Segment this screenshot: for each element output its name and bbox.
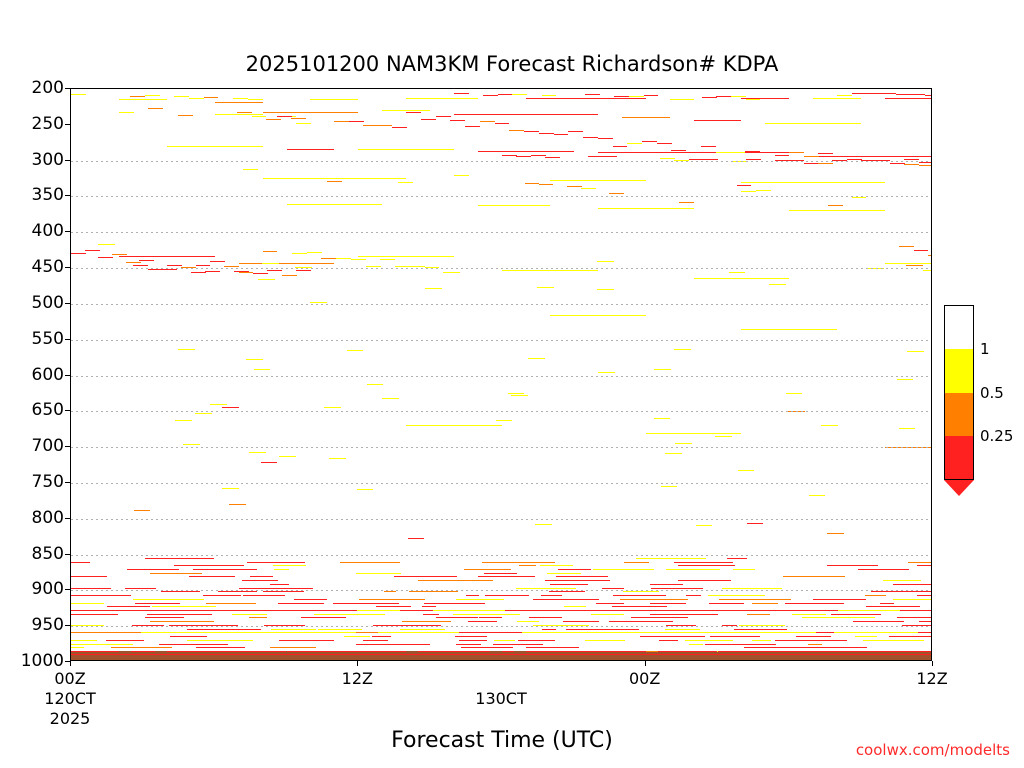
heatmap-cell (622, 651, 634, 652)
heatmap-cell (855, 636, 877, 637)
heatmap-cell (239, 272, 254, 273)
heatmap-cell (485, 595, 529, 596)
heatmap-cell (908, 562, 932, 563)
heatmap-cell (215, 102, 263, 103)
heatmap-cell (130, 96, 145, 97)
heatmap-cell (191, 651, 203, 652)
heatmap-cell (511, 395, 528, 396)
y-axis-tick-mark (65, 446, 70, 447)
color-legend-segment (944, 436, 974, 480)
heatmap-cell (222, 407, 239, 408)
heatmap-cell (585, 94, 600, 95)
heatmap-cell (696, 525, 713, 526)
heatmap-cell (243, 169, 258, 170)
y-axis-tick-mark (65, 482, 70, 483)
heatmap-cell (526, 651, 538, 652)
heatmap-cell (931, 580, 932, 581)
heatmap-cell (454, 114, 598, 115)
heatmap-cell (789, 152, 804, 153)
grid-line (71, 447, 931, 448)
heatmap-cell (675, 443, 692, 444)
y-axis-tick-mark (65, 124, 70, 125)
heatmap-cell (203, 595, 241, 596)
grid-line (71, 483, 931, 484)
heatmap-cell (701, 146, 716, 147)
heatmap-cell (654, 369, 671, 370)
heatmap-cell (107, 651, 119, 652)
heatmap-cell (804, 163, 819, 164)
heatmap-cell (918, 632, 932, 633)
heatmap-cell (792, 614, 827, 615)
heatmap-cell (602, 588, 624, 589)
heatmap-cell (239, 651, 251, 652)
heatmap-cell (598, 651, 610, 652)
heatmap-cell (549, 591, 585, 592)
y-axis-tick-label: 500 (32, 293, 64, 313)
grid-line (71, 626, 931, 627)
heatmap-cell (837, 95, 852, 96)
heatmap-cell (112, 254, 127, 255)
heatmap-cell (674, 562, 732, 563)
heatmap-cell (329, 458, 346, 459)
heatmap-cell (539, 133, 554, 134)
heatmap-cell (174, 96, 189, 97)
y-axis-tick-mark (65, 339, 70, 340)
heatmap-cell (814, 647, 866, 648)
heatmap-cell (907, 351, 924, 352)
y-axis-tick-mark (65, 625, 70, 626)
heatmap-cell (733, 569, 755, 570)
heatmap-cell (686, 595, 701, 596)
heatmap-cell (468, 621, 497, 622)
heatmap-cell (161, 591, 200, 592)
heatmap-cell (541, 595, 563, 596)
heatmap-cell (651, 588, 703, 589)
heatmap-cell (263, 591, 305, 592)
heatmap-cell (783, 576, 845, 577)
grid-line (71, 555, 931, 556)
y-axis-tick-label: 400 (32, 221, 64, 241)
heatmap-cell (517, 621, 539, 622)
heatmap-cell (657, 143, 672, 144)
grid-line (71, 340, 931, 341)
heatmap-cell (837, 651, 849, 652)
heatmap-cell (464, 569, 511, 570)
heatmap-cell (205, 271, 220, 272)
heatmap-cell (746, 99, 761, 100)
heatmap-cell (512, 94, 527, 95)
y-axis-tick-mark (65, 88, 70, 89)
heatmap-cell (893, 599, 932, 600)
heatmap-cell (526, 98, 646, 99)
heatmap-cell (424, 603, 485, 604)
heatmap-cell (716, 152, 731, 153)
heatmap-cell (765, 123, 861, 124)
heatmap-cell (865, 632, 878, 633)
heatmap-cell (685, 640, 733, 641)
heatmap-cell (237, 112, 252, 113)
x-axis-tick-mark (70, 661, 71, 666)
heatmap-cell (406, 425, 502, 426)
x-axis-tick-mark (932, 661, 933, 666)
heatmap-cell (273, 565, 306, 566)
heatmap-cell (775, 640, 848, 641)
heatmap-cell (562, 651, 574, 652)
heatmap-cell (466, 651, 478, 652)
heatmap-cell (193, 569, 257, 570)
heatmap-cell (274, 569, 288, 570)
heatmap-cell (919, 165, 932, 166)
heatmap-cell (597, 289, 614, 290)
heatmap-cell (406, 98, 478, 99)
heatmap-cell (310, 99, 358, 100)
heatmap-cell (267, 270, 282, 271)
heatmap-cell (554, 134, 569, 135)
x-axis-tick-label: 12Z (916, 669, 947, 688)
heatmap-cell (418, 580, 492, 581)
heatmap-cell (659, 640, 677, 641)
heatmap-cell (745, 151, 760, 152)
heatmap-cell (809, 495, 826, 496)
color-legend-top-arrow (944, 291, 974, 305)
heatmap-cell (925, 95, 932, 96)
heatmap-cell (71, 562, 90, 563)
heatmap-cell (838, 610, 900, 611)
heatmap-cell (398, 182, 413, 183)
heatmap-cell (533, 599, 599, 600)
heatmap-cell (741, 182, 885, 183)
x-axis-tick-label: 12Z (342, 669, 373, 688)
heatmap-cell (866, 606, 920, 607)
y-axis-tick-mark (65, 518, 70, 519)
heatmap-cell (232, 614, 268, 615)
heatmap-cell (498, 94, 513, 95)
heatmap-cell (853, 621, 904, 622)
heatmap-cell (139, 260, 154, 261)
heatmap-cell (287, 149, 335, 150)
heatmap-cell (741, 191, 756, 192)
heatmap-cell (540, 565, 573, 566)
heatmap-cell (454, 175, 469, 176)
grid-line (71, 196, 931, 197)
heatmap-cell (322, 651, 334, 652)
heatmap-cell (928, 255, 932, 256)
heatmap-cell (739, 610, 805, 611)
y-axis-tick-label: 700 (32, 436, 64, 456)
heatmap-cell (119, 112, 134, 113)
heatmap-cell (95, 651, 107, 652)
heatmap-cell (384, 591, 397, 592)
heatmap-cell (478, 205, 550, 206)
heatmap-cell (919, 621, 932, 622)
heatmap-cell (744, 647, 814, 648)
heatmap-cell (496, 420, 513, 421)
heatmap-cell (478, 651, 490, 652)
heatmap-cell (159, 644, 228, 645)
heatmap-cell (896, 94, 911, 95)
y-axis-tick-mark (65, 410, 70, 411)
heatmap-cell (310, 651, 322, 652)
heatmap-cell (598, 372, 615, 373)
heatmap-cell (406, 112, 421, 113)
heatmap-cell (899, 246, 914, 247)
heatmap-cell (395, 266, 410, 267)
heatmap-cell (282, 275, 297, 276)
heatmap-cell (410, 266, 425, 267)
heatmap-cell (106, 640, 144, 641)
heatmap-cell (433, 610, 504, 611)
heatmap-cell (660, 158, 675, 159)
heatmap-cell (262, 263, 279, 264)
heatmap-cell (242, 580, 278, 581)
heatmap-cell (609, 193, 624, 194)
heatmap-cell (494, 640, 515, 641)
heatmap-cell (421, 119, 436, 120)
heatmap-cells (71, 89, 931, 660)
heatmap-cell (459, 632, 522, 633)
heatmap-cell (796, 636, 831, 637)
heatmap-cell (644, 95, 659, 96)
heatmap-cell (196, 265, 211, 266)
heatmap-cell (162, 269, 177, 270)
heatmap-cell (175, 420, 192, 421)
heatmap-cell (885, 651, 897, 652)
y-axis-tick-label: 650 (32, 400, 64, 420)
y-axis-tick-mark (65, 267, 70, 268)
heatmap-cell (71, 94, 86, 95)
heatmap-cell (670, 651, 682, 652)
heatmap-cell (327, 181, 342, 182)
heatmap-cell (885, 632, 901, 633)
x-axis-tick-mark (357, 661, 358, 666)
grid-line (71, 376, 931, 377)
heatmap-cell (85, 250, 100, 251)
heatmap-cell (627, 143, 642, 144)
heatmap-cell (542, 629, 556, 630)
heatmap-cell (542, 95, 557, 96)
heatmap-cell (747, 523, 764, 524)
heatmap-cell (665, 629, 700, 630)
heatmap-cell (98, 257, 113, 258)
heatmap-cell (581, 188, 596, 189)
heatmap-cell (148, 269, 163, 270)
heatmap-cell (747, 614, 770, 615)
heatmap-cell (502, 651, 514, 652)
heatmap-cell (914, 250, 929, 251)
heatmap-cell (597, 261, 614, 262)
heatmap-cell (789, 210, 885, 211)
heatmap-cell (678, 565, 735, 566)
heatmap-cell (547, 573, 581, 574)
y-axis-tick-label: 600 (32, 365, 64, 385)
heatmap-cell (731, 96, 746, 97)
heatmap-cell (125, 588, 156, 589)
heatmap-cell (603, 156, 618, 157)
heatmap-cell (718, 651, 730, 652)
heatmap-cell (502, 270, 598, 271)
heatmap-cell (828, 205, 843, 206)
heatmap-cell (210, 404, 227, 405)
heatmap-cell (239, 588, 313, 589)
heatmap-cell (642, 141, 657, 142)
heatmap-cell (613, 146, 628, 147)
heatmap-cell (622, 117, 670, 118)
heatmap-cell (71, 651, 83, 652)
heatmap-cell (738, 470, 755, 471)
heatmap-cell (596, 603, 624, 604)
heatmap-cell (210, 261, 225, 262)
heatmap-cell (866, 93, 881, 94)
heatmap-cell (370, 651, 382, 652)
heatmap-cell (890, 163, 905, 164)
heatmap-cell (588, 156, 603, 157)
heatmap-cell (832, 156, 847, 157)
chart-title: 2025101200 NAM3KM Forecast Richardson# K… (0, 52, 1024, 76)
heatmap-cell (535, 524, 552, 525)
heatmap-cell (380, 259, 395, 260)
heatmap-cell (694, 278, 790, 279)
heatmap-cell (858, 569, 908, 570)
heatmap-cell (611, 632, 627, 633)
heatmap-cell (358, 256, 454, 257)
heatmap-cell (931, 291, 932, 292)
heatmap-cell (187, 629, 261, 630)
heatmap-cell (629, 96, 644, 97)
heatmap-cell (461, 647, 512, 648)
heatmap-cell (145, 95, 160, 96)
heatmap-cell (358, 149, 454, 150)
heatmap-cell (147, 614, 211, 615)
y-axis-tick-label: 900 (32, 579, 64, 599)
heatmap-cell (897, 617, 932, 618)
heatmap-cell (394, 651, 406, 652)
heatmap-cell (152, 606, 216, 607)
heatmap-cell (818, 163, 833, 164)
heatmap-cell (334, 121, 349, 122)
heatmap-cell (71, 647, 84, 648)
heatmap-cell (623, 591, 659, 592)
heatmap-cell (813, 599, 865, 600)
heatmap-cell (631, 617, 688, 618)
heatmap-cell (336, 258, 351, 259)
heatmap-cell (730, 152, 745, 153)
heatmap-cell (356, 644, 430, 645)
heatmap-cell (678, 580, 732, 581)
terrain-block (71, 651, 932, 661)
heatmap-cell (346, 651, 358, 652)
heatmap-cell (568, 131, 583, 132)
heatmap-cell (493, 644, 543, 645)
heatmap-cell (333, 603, 398, 604)
heatmap-cell (402, 621, 451, 622)
heatmap-cell (222, 488, 239, 489)
heatmap-cell (71, 640, 97, 641)
heatmap-cell (307, 252, 322, 253)
heatmap-cell (382, 651, 394, 652)
heatmap-cell (885, 263, 932, 264)
heatmap-cell (729, 272, 746, 273)
heatmap-cell (119, 256, 215, 257)
heatmap-cell (134, 510, 151, 511)
heatmap-cell (392, 127, 407, 128)
heatmap-cell (83, 651, 95, 652)
heatmap-cell (591, 614, 624, 615)
grid-line (71, 519, 931, 520)
heatmap-cell (609, 621, 673, 622)
heatmap-cell (234, 271, 249, 272)
heatmap-cell (666, 569, 721, 570)
heatmap-cell (442, 651, 454, 652)
heatmap-cell (861, 651, 873, 652)
grid-line (71, 304, 931, 305)
heatmap-cell (275, 651, 287, 652)
heatmap-cell (808, 644, 822, 645)
heatmap-cell (71, 595, 131, 596)
heatmap-cell (178, 349, 195, 350)
heatmap-cell (279, 456, 296, 457)
heatmap-cell (459, 640, 487, 641)
heatmap-cell (189, 576, 234, 577)
heatmap-cell (650, 614, 718, 615)
heatmap-cell (516, 588, 577, 589)
heatmap-cell (753, 651, 765, 652)
heatmap-cell (550, 651, 562, 652)
color-legend-segment (944, 305, 974, 349)
grid-line (71, 232, 931, 233)
heatmap-cell (324, 407, 341, 408)
heatmap-cell (321, 258, 336, 259)
heatmap-cell (871, 591, 932, 592)
heatmap-cell (127, 569, 179, 570)
heatmap-cell (816, 632, 834, 633)
heatmap-cell (301, 617, 346, 618)
heatmap-cell (111, 647, 172, 648)
heatmap-cell (702, 97, 717, 98)
heatmap-cell (187, 640, 253, 641)
heatmap-cell (167, 651, 179, 652)
grid-line (71, 411, 931, 412)
heatmap-cell (287, 651, 299, 652)
heatmap-cell (715, 433, 732, 434)
heatmap-cell (234, 610, 285, 611)
heatmap-cell (363, 125, 378, 126)
heatmap-cell (528, 358, 545, 359)
heatmap-cell (585, 640, 625, 641)
heatmap-cell (801, 651, 813, 652)
heatmap-cell (906, 265, 923, 266)
y-axis-tick-mark (65, 554, 70, 555)
heatmap-cell (727, 558, 747, 559)
heatmap-cell (614, 96, 629, 97)
heatmap-cell (254, 369, 271, 370)
heatmap-cell (670, 99, 694, 100)
heatmap-cell (502, 155, 517, 156)
color-legend-label: 1 (980, 340, 990, 358)
heatmap-cell (769, 284, 786, 285)
heatmap-cell (263, 112, 359, 113)
heatmap-cell (708, 595, 765, 596)
heatmap-cell (291, 118, 306, 119)
heatmap-cell (545, 580, 610, 581)
heatmap-cell (538, 651, 550, 652)
heatmap-cell (71, 644, 133, 645)
heatmap-cell (372, 636, 392, 637)
heatmap-cell (550, 315, 646, 316)
heatmap-cell (509, 130, 524, 131)
y-axis-tick-mark (65, 160, 70, 161)
heatmap-cell (785, 603, 844, 604)
heatmap-cell (480, 121, 495, 122)
